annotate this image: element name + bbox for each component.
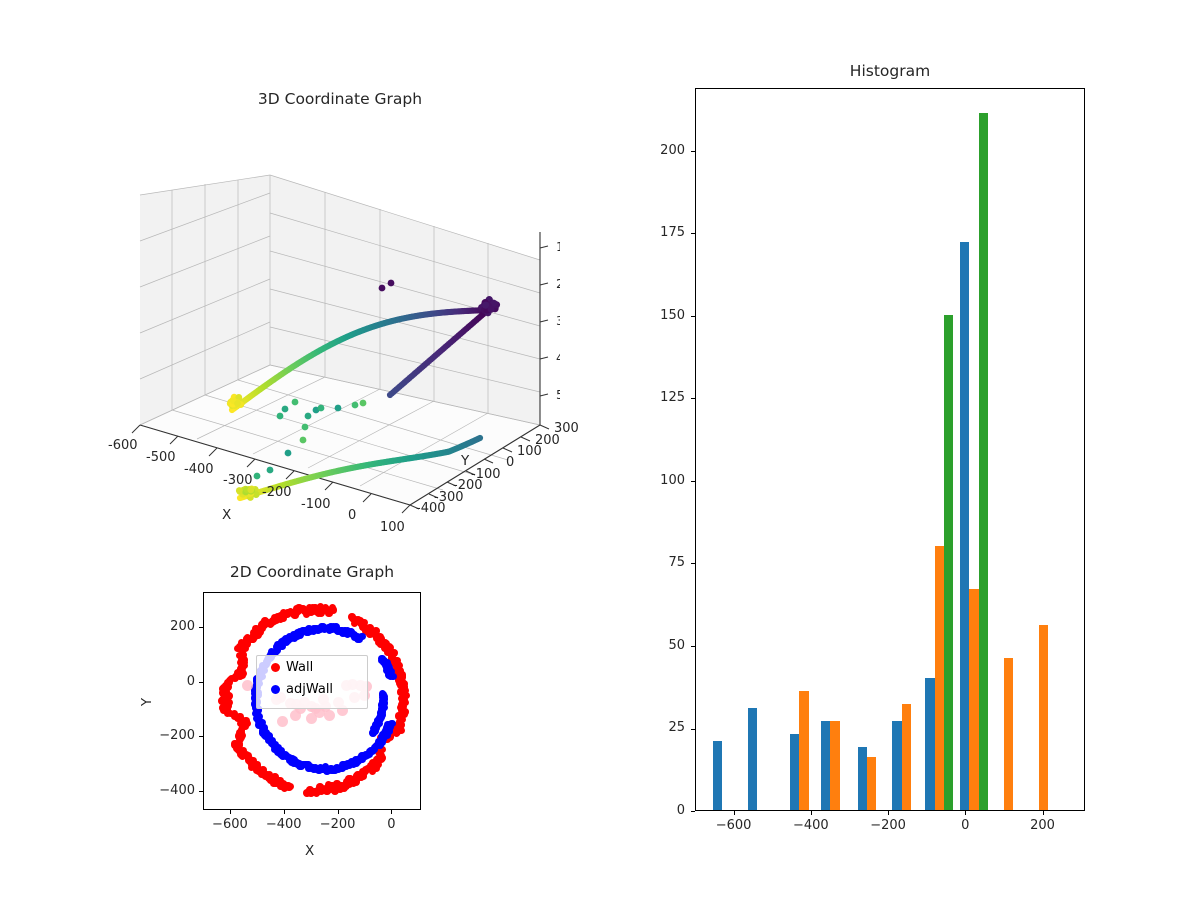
three-d-x-tick-6: 0 <box>348 508 356 523</box>
histogram-bar <box>969 589 978 810</box>
histogram-y-tick-label: 75 <box>0 555 685 570</box>
histogram-bar <box>979 113 988 810</box>
histogram-bar <box>821 721 830 810</box>
histogram-y-tick-label: 25 <box>0 720 685 735</box>
histogram-y-tick-label: 125 <box>0 390 685 405</box>
histogram-bar <box>1004 658 1013 810</box>
histogram-x-tick-label: −200 <box>858 818 918 833</box>
three-d-z-tick-1: 20 <box>556 276 560 291</box>
three-d-point <box>236 487 243 494</box>
three-d-z-tick-3: 40 <box>556 350 560 365</box>
histogram-title: Histogram <box>695 62 1085 80</box>
histogram-bar <box>960 242 969 810</box>
histogram-bar <box>748 708 757 810</box>
legend-marker-wall-icon <box>271 663 280 672</box>
three-d-point <box>277 413 284 420</box>
histogram-y-tick-mark <box>691 316 695 317</box>
three-d-y-axis-label: Y <box>461 453 469 469</box>
legend-item-wall[interactable]: Wall <box>257 656 367 678</box>
histogram-y-tick-label: 175 <box>0 225 685 240</box>
three-d-y-tick-7: -400 <box>416 501 446 516</box>
histogram-bar <box>858 747 867 810</box>
histogram-bar <box>892 721 901 810</box>
legend-label-adjwall: adjWall <box>286 682 345 697</box>
three-d-point <box>282 406 289 413</box>
histogram-bar <box>713 741 722 810</box>
faded-wall-point <box>324 710 335 721</box>
three-d-y-tick-2: 100 <box>517 444 542 459</box>
histogram-y-tick-mark <box>691 646 695 647</box>
legend-marker-adjwall-icon <box>271 685 280 694</box>
three-d-point <box>335 405 342 412</box>
histogram-bar <box>902 704 911 810</box>
faded-wall-point <box>242 680 253 691</box>
three-d-point <box>318 405 325 412</box>
wall-point <box>348 613 356 621</box>
two-d-x-tick-label: 0 <box>361 817 421 832</box>
histogram-bar <box>867 757 876 810</box>
histogram-bar <box>944 315 953 810</box>
legend-item-adjwall[interactable]: adjWall <box>257 678 367 700</box>
three-d-x-tick-0: -600 <box>108 438 138 453</box>
matplotlib-figure: 3D Coordinate Graph <box>0 0 1200 900</box>
histogram-axes[interactable] <box>695 88 1085 811</box>
two-d-y-tick-mark <box>199 736 203 737</box>
two-d-y-tick-mark <box>199 627 203 628</box>
three-d-title: 3D Coordinate Graph <box>120 90 560 108</box>
histogram-bar <box>935 546 944 810</box>
two-d-x-tick-label: −600 <box>200 817 260 832</box>
histogram-bar <box>1039 625 1048 810</box>
two-d-legend[interactable]: Wall adjWall <box>256 655 368 709</box>
two-d-y-tick-mark <box>199 791 203 792</box>
histogram-bar <box>830 721 839 810</box>
three-d-y-tick-3: 0 <box>506 455 514 470</box>
three-d-x-tick-7: 100 <box>380 520 405 535</box>
three-d-point <box>302 424 309 431</box>
three-d-x-tick-5: -100 <box>301 497 331 512</box>
three-d-point <box>379 285 386 292</box>
two-d-y-tick-label: 200 <box>150 619 195 634</box>
three-d-point <box>305 413 312 420</box>
histogram-x-tick-mark <box>811 811 812 815</box>
histogram-x-tick-label: 200 <box>1013 818 1073 833</box>
histogram-y-tick-mark <box>691 481 695 482</box>
three-d-x-axis-label: X <box>222 507 231 523</box>
three-d-point <box>285 450 292 457</box>
two-d-y-axis-label: Y <box>139 698 155 706</box>
histogram-bars-layer <box>696 89 1084 810</box>
two-d-x-axis-label: X <box>305 843 314 859</box>
wall-point <box>287 783 295 791</box>
two-d-x-tick-label: −400 <box>254 817 314 832</box>
histogram-y-tick-label: 150 <box>0 308 685 323</box>
histogram-y-tick-mark <box>691 233 695 234</box>
two-d-y-tick-label: −400 <box>150 783 195 798</box>
histogram-y-tick-label: 200 <box>0 143 685 158</box>
histogram-y-tick-label: 50 <box>0 638 685 653</box>
histogram-y-tick-mark <box>691 563 695 564</box>
two-d-x-tick-label: −200 <box>308 817 368 832</box>
histogram-y-tick-mark <box>691 398 695 399</box>
histogram-x-tick-label: −600 <box>704 818 764 833</box>
two-d-axes[interactable]: Wall adjWall <box>203 592 421 810</box>
histogram-bar <box>799 691 808 810</box>
histogram-bar <box>790 734 799 810</box>
histogram-x-tick-mark <box>888 811 889 815</box>
two-d-y-tick-label: 0 <box>150 674 195 689</box>
legend-label-wall: Wall <box>286 660 325 675</box>
three-d-point <box>388 280 395 287</box>
wall-point <box>399 697 407 705</box>
three-d-x-tick-1: -500 <box>146 450 176 465</box>
histogram-x-tick-mark <box>734 811 735 815</box>
histogram-y-tick-mark <box>691 151 695 152</box>
histogram-y-tick-label: 100 <box>0 473 685 488</box>
histogram-x-tick-mark <box>965 811 966 815</box>
histogram-x-tick-mark <box>1043 811 1044 815</box>
histogram-bar <box>925 678 934 810</box>
three-d-point <box>300 437 307 444</box>
histogram-y-tick-label: 0 <box>0 803 685 818</box>
two-d-y-tick-mark <box>199 682 203 683</box>
histogram-x-tick-label: 0 <box>935 818 995 833</box>
three-d-z-tick-0: 10 <box>556 239 560 254</box>
histogram-y-tick-mark <box>691 729 695 730</box>
histogram-y-tick-mark <box>691 811 695 812</box>
histogram-x-tick-label: −400 <box>781 818 841 833</box>
three-d-point <box>477 435 483 441</box>
adjwall-point <box>379 690 387 698</box>
